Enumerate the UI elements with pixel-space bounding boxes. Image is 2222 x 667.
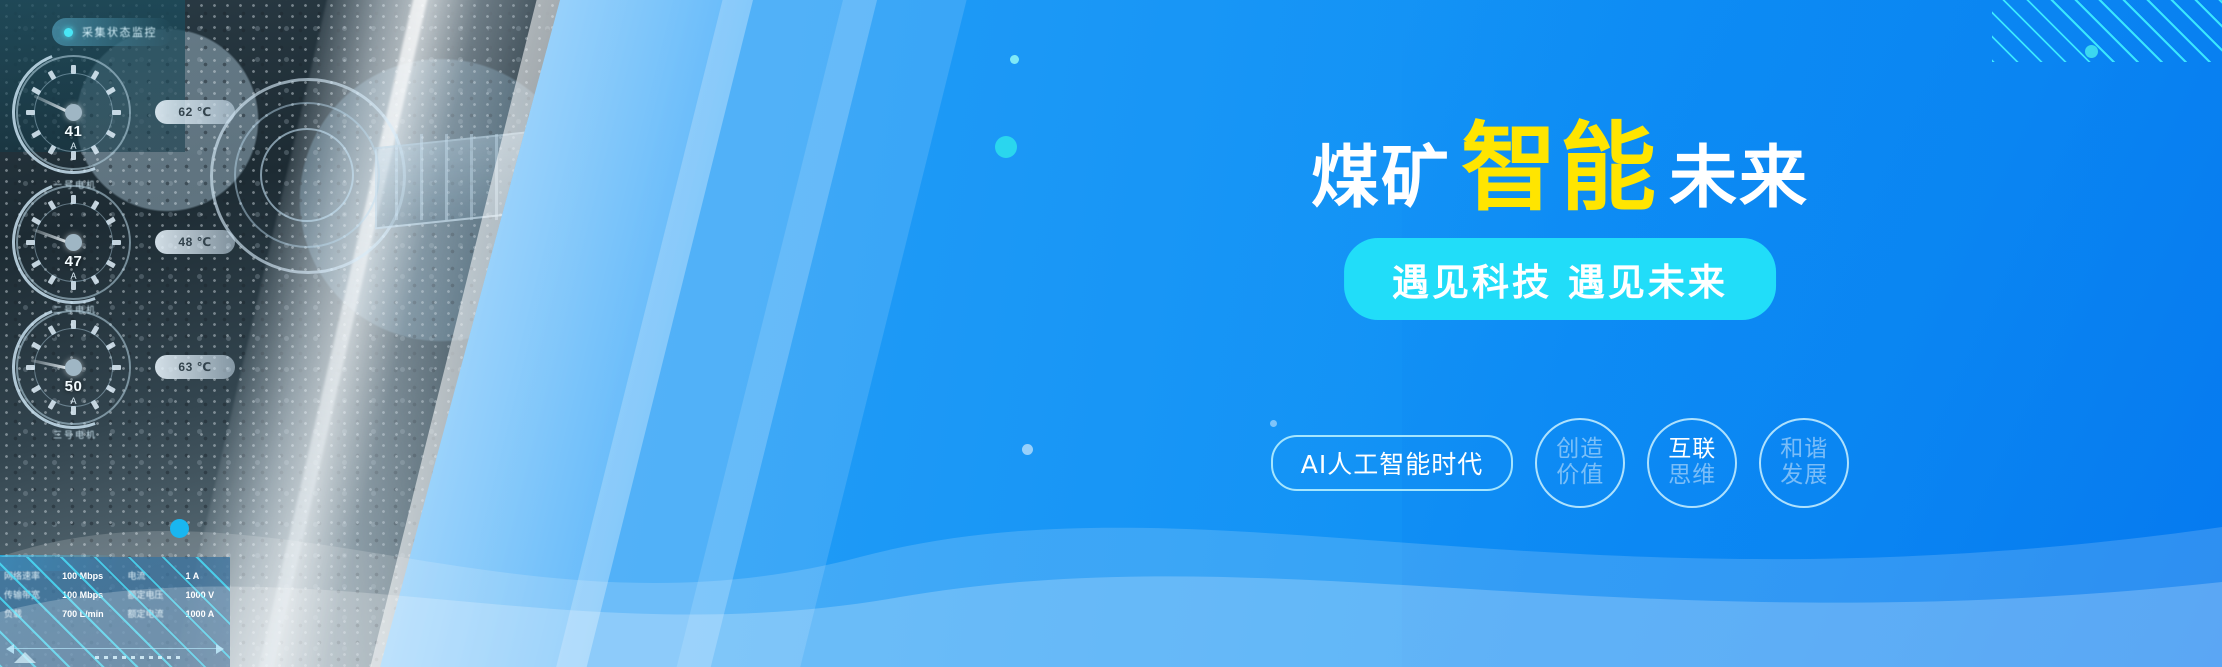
decor-dot-small — [2085, 45, 2098, 58]
tag-row: AI人工智能时代 创造 价值 互联 思维 和谐 发展 — [1060, 418, 2060, 508]
gauge-hub — [65, 104, 82, 121]
gauge-value: 41 — [16, 123, 131, 140]
gauge-unit: A — [16, 141, 131, 151]
status-dot-icon — [64, 28, 73, 37]
circle-line-1: 互联 — [1668, 437, 1716, 463]
circle-badge-connected-thinking[interactable]: 互联 思维 — [1647, 418, 1737, 508]
circle-badge-harmonious-development[interactable]: 和谐 发展 — [1759, 418, 1849, 508]
gauge-hub — [65, 359, 82, 376]
title-prefix: 煤矿 — [1311, 139, 1451, 218]
subtitle-pill: 遇见科技 遇见未来 — [1344, 238, 1776, 320]
circle-line-1: 创造 — [1556, 437, 1604, 463]
gauge-hub — [65, 234, 82, 251]
circle-line-2: 思维 — [1668, 463, 1716, 489]
circle-badge-create-value[interactable]: 创造 价值 — [1535, 418, 1625, 508]
content-column: 煤矿智能未来 遇见科技 遇见未来 AI人工智能时代 创造 价值 互联 思维 和谐… — [1060, 0, 2060, 667]
gauge-temperature: 63 ℃ — [155, 355, 235, 379]
gauge-value: 47 — [16, 253, 131, 270]
page-title: 煤矿智能未来 — [1060, 120, 2060, 216]
decor-dot-small — [1010, 55, 1019, 64]
circle-line-1: 和谐 — [1780, 437, 1828, 463]
hud-header-label: 采集状态监控 — [82, 24, 157, 40]
gauge-1: 41 A — [16, 55, 131, 170]
gauge-temperature: 62 ℃ — [155, 100, 235, 124]
gauge-unit: A — [16, 271, 131, 281]
gauge-temperature: 48 ℃ — [155, 230, 235, 254]
gauge-unit: A — [16, 396, 131, 406]
tag-pill-ai-era[interactable]: AI人工智能时代 — [1271, 435, 1513, 491]
decor-dot-small — [1022, 444, 1033, 455]
banner-root: 采集状态监控 41 A — [0, 0, 2222, 667]
circle-line-2: 发展 — [1780, 463, 1828, 489]
circle-line-2: 价值 — [1556, 463, 1604, 489]
title-highlight: 智能 — [1461, 112, 1659, 224]
gauge-value: 50 — [16, 378, 131, 395]
decor-dot-large — [995, 136, 1017, 158]
title-suffix: 未来 — [1669, 139, 1809, 218]
gauge-2: 47 A — [16, 185, 131, 300]
hud-status-chip: 采集状态监控 — [52, 18, 173, 46]
decor-dot-accent — [170, 519, 189, 538]
